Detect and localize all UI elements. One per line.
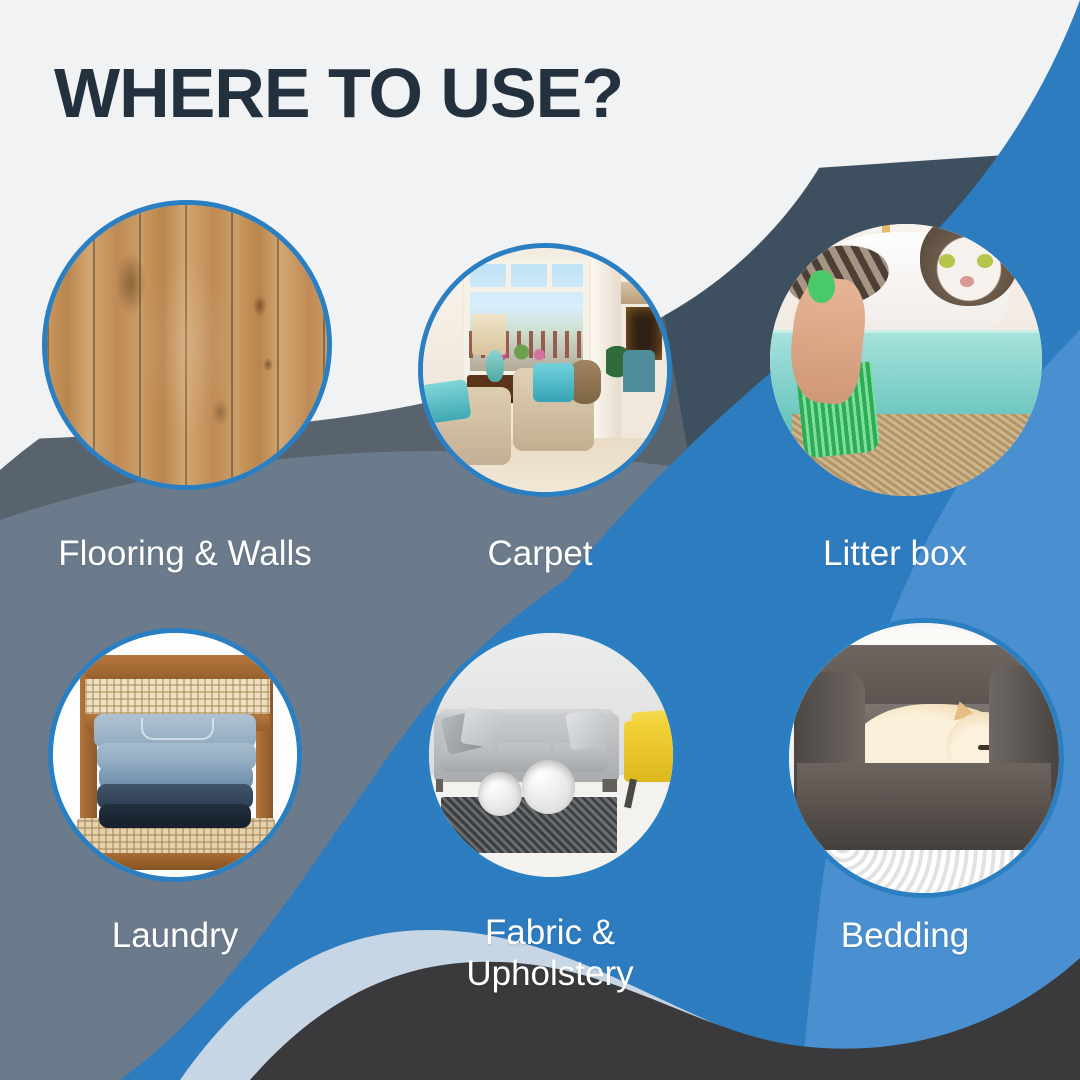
caption-fabric-upholstery: Fabric & Upholstery — [385, 912, 715, 995]
infographic-canvas: WHERE TO USE? Flooring & Walls — [0, 0, 1080, 1080]
caption-flooring-walls: Flooring & Walls — [0, 533, 370, 574]
photo-litter-box[interactable] — [770, 224, 1042, 496]
photo-wood-planks[interactable] — [42, 200, 332, 490]
photo-pet-bed[interactable] — [784, 618, 1064, 898]
caption-laundry: Laundry — [0, 915, 350, 956]
use-case-grid: Flooring & Walls — [0, 0, 1080, 1080]
photo-living-room[interactable] — [418, 243, 672, 497]
caption-litter-box: Litter box — [720, 533, 1070, 574]
caption-carpet: Carpet — [370, 533, 710, 574]
caption-bedding: Bedding — [730, 915, 1080, 956]
photo-modern-living-room[interactable] — [424, 628, 678, 882]
photo-folded-jeans[interactable] — [48, 628, 302, 882]
page-title: WHERE TO USE? — [54, 58, 623, 128]
